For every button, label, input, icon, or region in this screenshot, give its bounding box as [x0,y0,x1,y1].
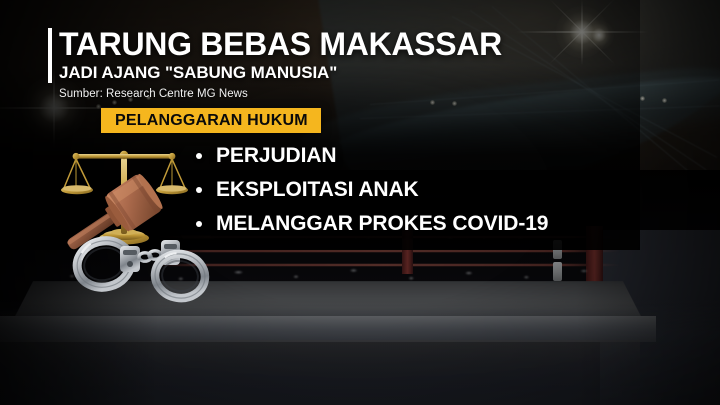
stadium-lamp [112,100,117,105]
stadium-lamp [430,100,435,105]
bullet-dot-icon [196,187,202,193]
page-subtitle: JADI AJANG "SABUNG MANUSIA" [59,63,502,83]
infographic-canvas: TARUNG BEBAS MAKASSAR JADI AJANG "SABUNG… [0,0,720,405]
arena-floor [0,300,720,405]
ring-turnbuckle [553,240,562,259]
page-title: TARUNG BEBAS MAKASSAR [59,28,502,61]
list-item: MELANGGAR PROKES COVID-19 [196,212,548,236]
gavel-icon [57,171,166,264]
source-credit: Sumber: Research Centre MG News [59,88,502,100]
title-row: TARUNG BEBAS MAKASSAR JADI AJANG "SABUNG… [48,28,502,83]
list-item-label: EKSPLOITASI ANAK [216,178,419,202]
section-banner: PELANGGARAN HUKUM [101,108,321,133]
violations-list: PERJUDIAN EKSPLOITASI ANAK MELANGGAR PRO… [196,144,548,236]
list-item-label: MELANGGAR PROKES COVID-19 [216,212,548,236]
title-text-group: TARUNG BEBAS MAKASSAR JADI AJANG "SABUNG… [59,28,502,83]
bullet-dot-icon [196,221,202,227]
list-item: EKSPLOITASI ANAK [196,178,548,202]
stadium-lamp [662,98,667,103]
list-item: PERJUDIAN [196,144,548,168]
ring-rope [150,236,620,238]
floodlight-glow [584,20,614,50]
list-item-label: PERJUDIAN [216,144,336,168]
law-illustration [52,136,212,308]
stadium-lamp [640,96,645,101]
title-accent-bar [48,28,52,83]
bullet-dot-icon [196,153,202,159]
handcuffs-icon [72,235,208,301]
ring-rope [150,250,620,252]
stadium-lamp [452,101,457,106]
section-banner-label: PELANGGARAN HUKUM [115,112,308,130]
headline-block: TARUNG BEBAS MAKASSAR JADI AJANG "SABUNG… [48,28,502,100]
